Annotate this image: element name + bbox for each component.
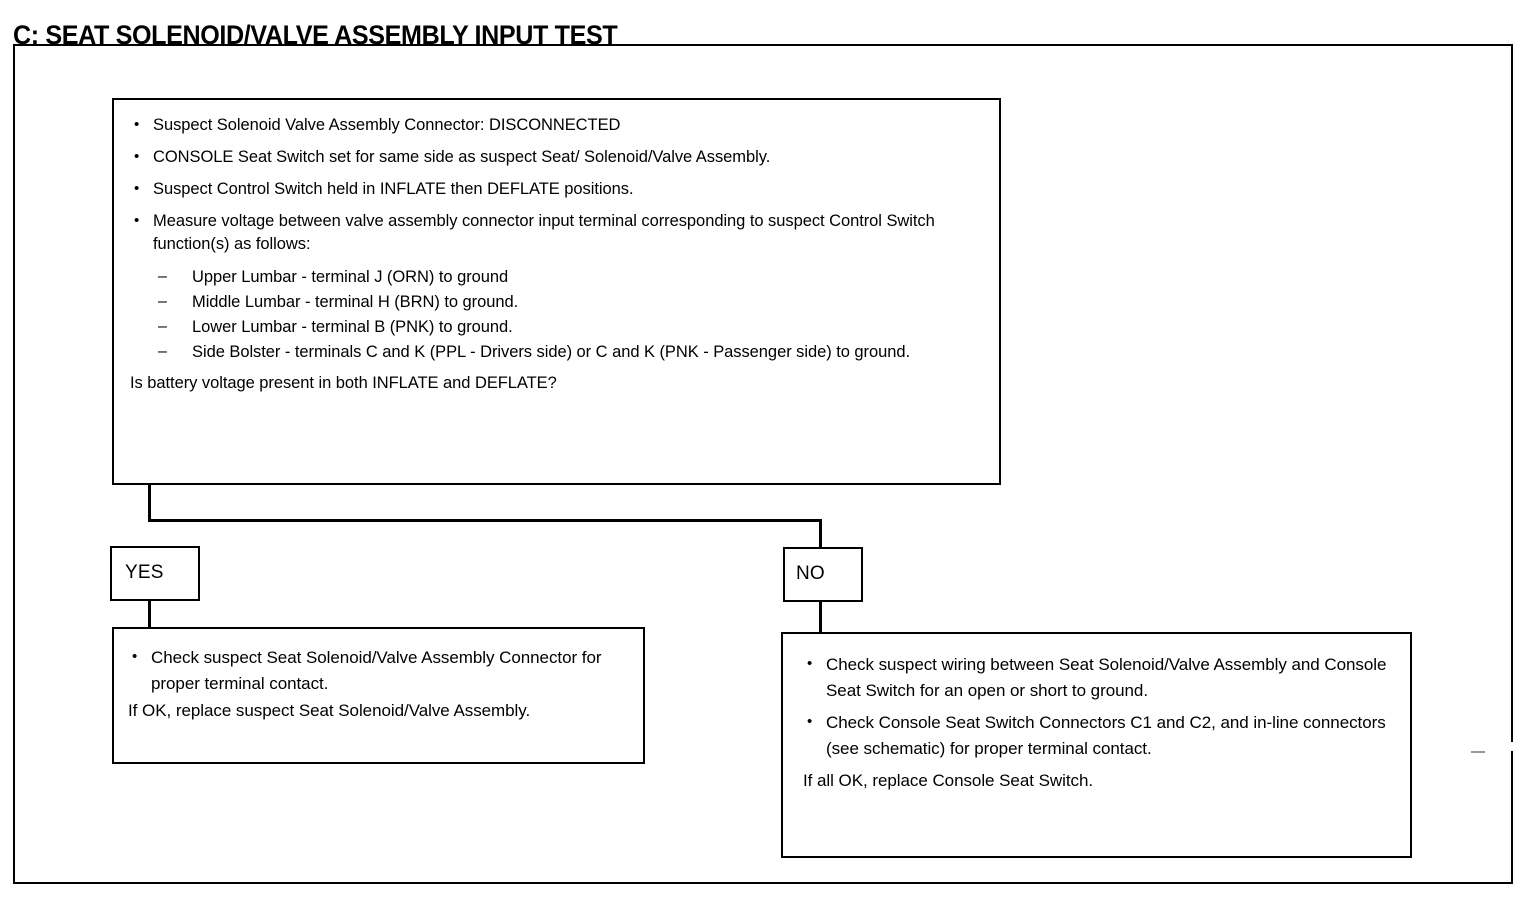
diagnostic-flowchart-page: C: SEAT SOLENOID/VALVE ASSEMBLY INPUT TE… xyxy=(0,0,1536,898)
list-item: Measure voltage between valve assembly c… xyxy=(130,210,983,256)
list-item: Check Console Seat Switch Connectors C1 … xyxy=(803,710,1396,762)
branch-no-label: NO xyxy=(785,563,861,585)
test-condition-bullet-list: Suspect Solenoid Valve Assembly Connecto… xyxy=(130,114,983,256)
frame-scan-break xyxy=(1510,742,1513,751)
list-item: Suspect Solenoid Valve Assembly Connecto… xyxy=(130,114,983,137)
decision-question-text: Is battery voltage present in both INFLA… xyxy=(130,371,983,395)
list-item: Suspect Control Switch held in INFLATE t… xyxy=(130,178,983,201)
connector-line-yes-to-result xyxy=(148,600,151,628)
result-no-box: Check suspect wiring between Seat Soleno… xyxy=(781,632,1412,858)
list-item: Check suspect wiring between Seat Soleno… xyxy=(803,652,1396,704)
result-no-closing-text: If all OK, replace Console Seat Switch. xyxy=(803,768,1396,794)
branch-no-box: NO xyxy=(783,547,863,602)
list-item: Upper Lumbar - terminal J (ORN) to groun… xyxy=(130,265,983,289)
connector-line-branch-bridge xyxy=(148,519,822,522)
result-yes-bullet-list: Check suspect Seat Solenoid/Valve Assemb… xyxy=(128,645,629,697)
branch-yes-label: YES xyxy=(112,562,198,584)
result-yes-closing-text: If OK, replace suspect Seat Solenoid/Val… xyxy=(128,698,629,724)
connector-line-to-no-box xyxy=(819,519,822,548)
list-item: Side Bolster - terminals C and K (PPL - … xyxy=(130,340,983,364)
list-item: Lower Lumbar - terminal B (PNK) to groun… xyxy=(130,315,983,339)
scan-artifact-speck xyxy=(1471,751,1485,753)
list-item: Middle Lumbar - terminal H (BRN) to grou… xyxy=(130,290,983,314)
list-item: Check suspect Seat Solenoid/Valve Assemb… xyxy=(128,645,629,697)
list-item: CONSOLE Seat Switch set for same side as… xyxy=(130,146,983,169)
terminal-measurement-sublist: Upper Lumbar - terminal J (ORN) to groun… xyxy=(130,265,983,364)
connector-line-question-drop xyxy=(148,485,151,522)
result-yes-box: Check suspect Seat Solenoid/Valve Assemb… xyxy=(112,627,645,764)
branch-yes-box: YES xyxy=(110,546,200,601)
connector-line-no-to-result xyxy=(819,600,822,633)
test-condition-box: Suspect Solenoid Valve Assembly Connecto… xyxy=(112,98,1001,485)
result-no-bullet-list: Check suspect wiring between Seat Soleno… xyxy=(803,652,1396,762)
